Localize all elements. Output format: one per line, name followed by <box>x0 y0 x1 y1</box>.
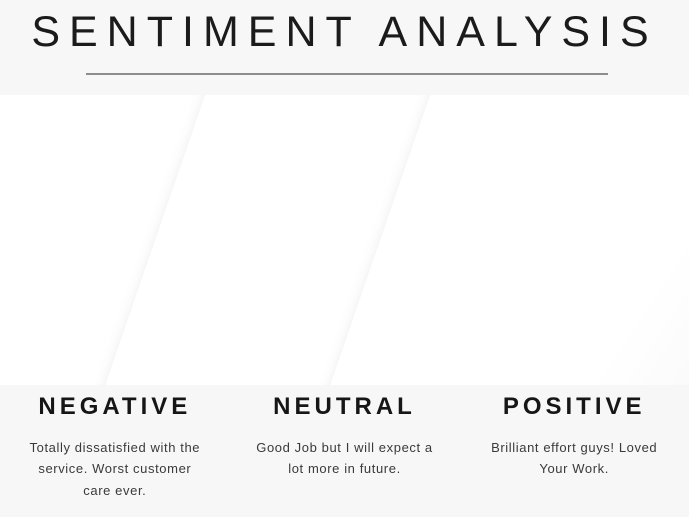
label-negative: NEGATIVE <box>10 393 220 421</box>
caption-strip: NEGATIVE Totally dissatisfied with the s… <box>0 385 689 517</box>
title-divider <box>86 73 608 75</box>
label-neutral: NEUTRAL <box>240 393 450 421</box>
title-block: SENTIMENT ANALYSIS <box>0 0 689 95</box>
sentiment-analysis-poster: SENTIMENT ANALYSIS <box>0 0 689 517</box>
caption-positive: POSITIVE Brilliant effort guys! Loved Yo… <box>459 385 689 517</box>
label-positive: POSITIVE <box>469 393 679 421</box>
description-positive: Brilliant effort guys! Loved Your Work. <box>469 437 679 480</box>
description-neutral: Good Job but I will expect a lot more in… <box>240 437 450 480</box>
diagonal-panel-band <box>0 95 689 395</box>
page-title: SENTIMENT ANALYSIS <box>0 8 689 57</box>
description-negative: Totally dissatisfied with the service. W… <box>10 437 220 501</box>
caption-negative: NEGATIVE Totally dissatisfied with the s… <box>0 385 230 517</box>
caption-neutral: NEUTRAL Good Job but I will expect a lot… <box>230 385 460 517</box>
